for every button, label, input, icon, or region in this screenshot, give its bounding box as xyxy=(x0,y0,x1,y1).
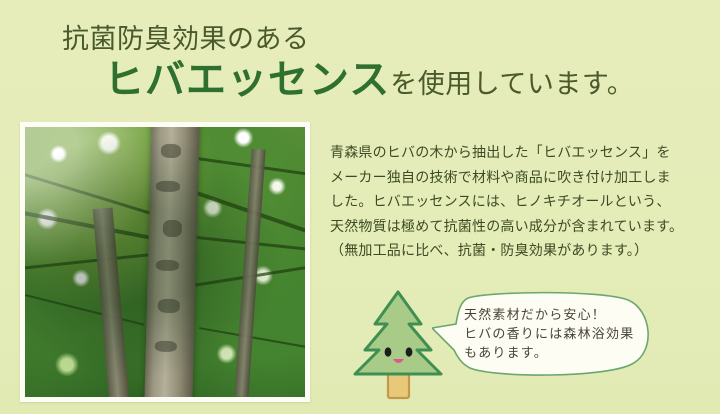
speech-bubble-line: 天然素材だから安心！ xyxy=(464,306,654,325)
mascot-eye-left xyxy=(385,347,392,356)
speech-bubble-text: 天然素材だから安心！ ヒバの香りには森林浴効果 もあります。 xyxy=(464,306,654,363)
body-copy-line: 天然物質は極めて抗菌性の高い成分が含まれています。 xyxy=(330,215,690,240)
hiba-tree-photo-frame xyxy=(20,122,310,402)
speech-bubble: 天然素材だから安心！ ヒバの香りには森林浴効果 もあります。 xyxy=(432,290,660,378)
body-copy-line: （無加工品に比べ、抗菌・防臭効果があります。） xyxy=(330,239,690,264)
heading-line-2: ヒバエッセンスを使用しています。 xyxy=(104,58,720,111)
mascot-eye-right xyxy=(406,347,413,356)
heading-block: 抗菌防臭効果のある ヒバエッセンスを使用しています。 xyxy=(0,22,720,111)
heading-line-2-suffix: を使用しています。 xyxy=(390,69,634,99)
heading-product-name: ヒバエッセンス xyxy=(104,57,390,102)
tree-mascot-icon xyxy=(345,288,455,404)
body-copy-line: メーカー独自の技術で材料や商品に吹き付け加工しま xyxy=(330,166,690,191)
speech-bubble-line: ヒバの香りには森林浴効果 xyxy=(464,325,654,344)
body-copy: 青森県のヒバの木から抽出した「ヒバエッセンス」を メーカー独自の技術で材料や商品… xyxy=(330,141,690,264)
hiba-tree-photo xyxy=(25,127,305,397)
heading-line-1: 抗菌防臭効果のある xyxy=(62,22,720,56)
speech-bubble-line: もあります。 xyxy=(464,344,654,363)
body-copy-line: した。ヒバエッセンスには、ヒノキチオールという、 xyxy=(330,190,690,215)
tree-mascot xyxy=(345,288,455,404)
photo-shading xyxy=(25,127,305,397)
body-copy-line: 青森県のヒバの木から抽出した「ヒバエッセンス」を xyxy=(330,141,690,166)
hiba-essence-banner: 抗菌防臭効果のある ヒバエッセンスを使用しています。 xyxy=(0,0,720,414)
